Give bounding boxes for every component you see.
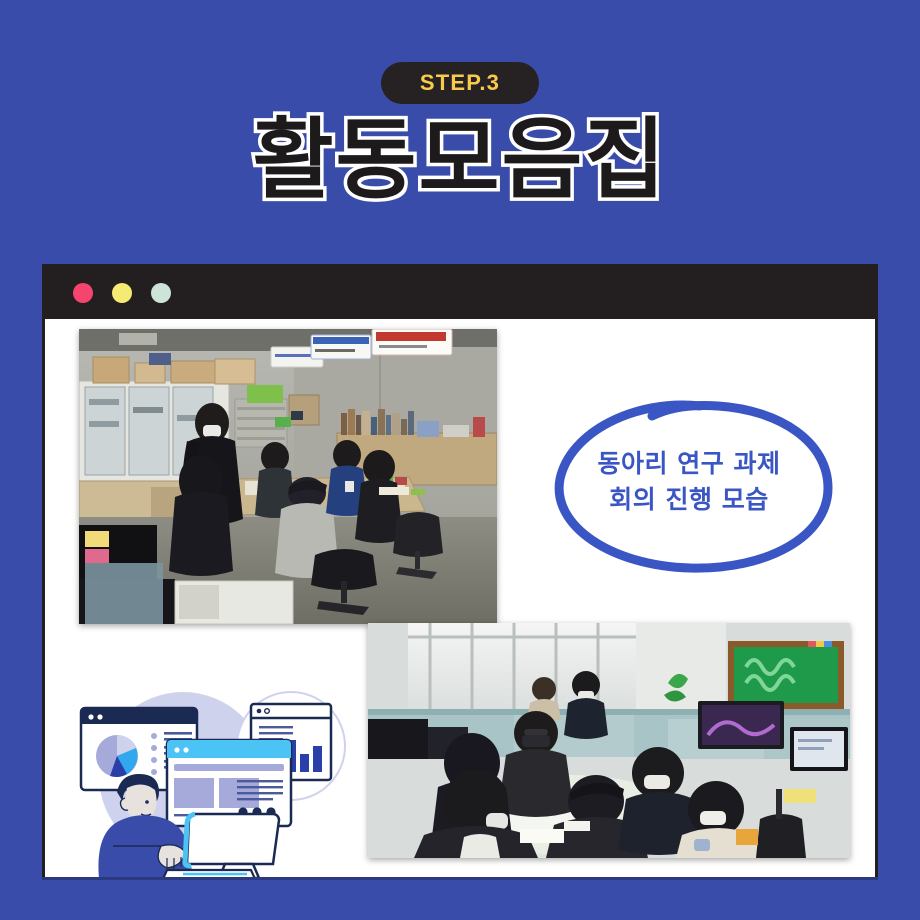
photo-meeting-lab — [79, 329, 497, 624]
window-maximize-icon[interactable] — [151, 283, 171, 303]
annotation-line-1: 동아리 연구 과제 — [540, 446, 838, 482]
annotation-text: 동아리 연구 과제 회의 진행 모습 — [540, 446, 838, 517]
browser-content: 동아리 연구 과제 회의 진행 모습 — [45, 319, 875, 877]
illustration-image — [55, 674, 365, 877]
page-title-text: 활동모음집 — [253, 112, 668, 209]
step-badge: STEP.3 — [381, 62, 539, 104]
poster-root: STEP.3 활동모음집 — [0, 0, 920, 920]
annotation-callout: 동아리 연구 과제 회의 진행 모습 — [540, 394, 838, 579]
window-minimize-icon[interactable] — [112, 283, 132, 303]
page-title: 활동모음집 — [0, 112, 920, 209]
step-badge-label: STEP.3 — [420, 70, 500, 96]
browser-titlebar — [45, 267, 875, 319]
photo-meeting-office — [368, 623, 850, 858]
browser-window: 동아리 연구 과제 회의 진행 모습 — [42, 264, 878, 877]
annotation-line-2: 회의 진행 모습 — [540, 482, 838, 518]
window-close-icon[interactable] — [73, 283, 93, 303]
photo-meeting-office-image — [368, 623, 850, 858]
photo-meeting-lab-image — [79, 329, 497, 624]
data-dashboard-illustration — [55, 674, 365, 877]
